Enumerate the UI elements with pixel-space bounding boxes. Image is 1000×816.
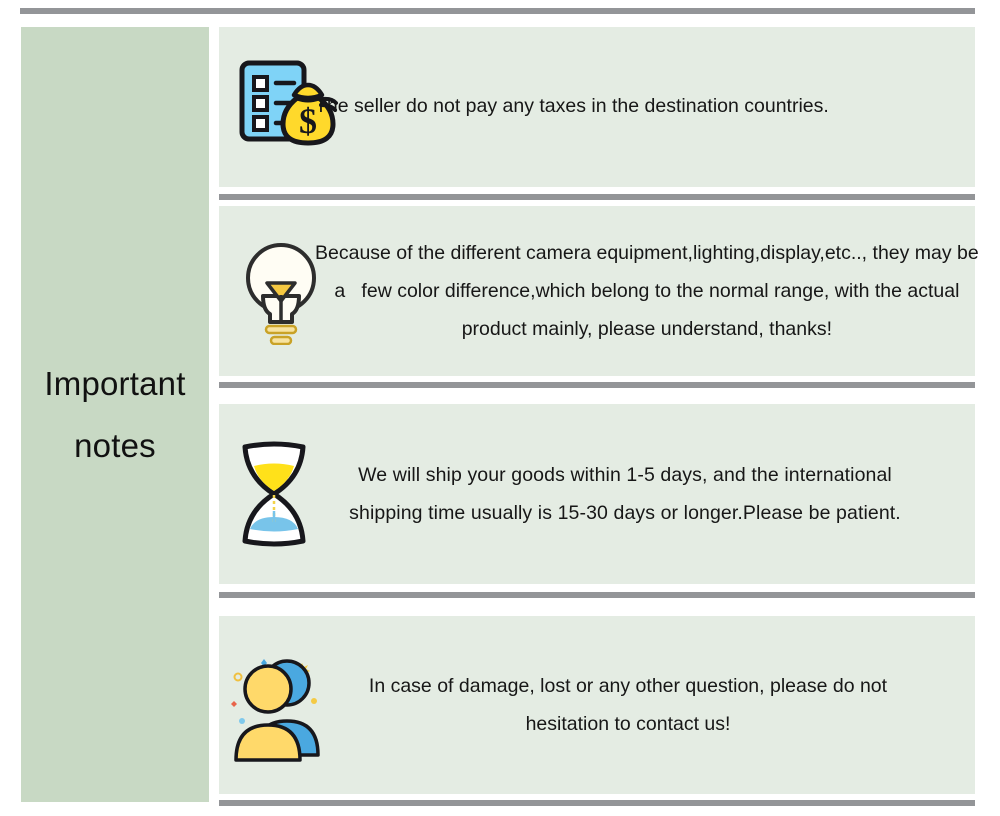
divider-rule-3 [219,592,975,598]
note-line: a few color difference,which belong to t… [315,272,979,310]
bottom-divider-rule [219,800,975,806]
note-line: shipping time usually is 15-30 days or l… [313,494,937,532]
important-notes-page: Important notes $ The [0,0,1000,816]
note-panel-taxes: $ The seller do not pay any taxes in the… [219,27,975,187]
note-text-shipping-time: We will ship your goods within 1-5 days,… [313,456,975,532]
note-text-contact-us: In case of damage, lost or any other que… [311,667,975,743]
sidebar-title: Important notes [40,353,190,475]
top-divider-rule [20,8,975,14]
lightbulb-icon [235,237,327,345]
note-line: In case of damage, lost or any other que… [311,667,945,705]
note-text-taxes: The seller do not pay any taxes in the d… [315,94,975,119]
divider-rule-1 [219,194,975,200]
note-text-color-difference: Because of the different camera equipmen… [315,234,997,349]
hourglass-icon [231,439,317,549]
note-panel-color-difference: Because of the different camera equipmen… [219,206,975,376]
note-line: Because of the different camera equipmen… [315,234,979,272]
divider-rule-2 [219,382,975,388]
note-line: product mainly, please understand, thank… [315,310,979,348]
note-line: The seller do not pay any taxes in the d… [315,94,975,119]
note-panel-shipping-time: We will ship your goods within 1-5 days,… [219,404,975,584]
sidebar-important-notes: Important notes [21,27,209,802]
note-line: We will ship your goods within 1-5 days,… [313,456,937,494]
note-panel-contact-us: In case of damage, lost or any other que… [219,616,975,794]
note-line: hesitation to contact us! [311,705,945,743]
